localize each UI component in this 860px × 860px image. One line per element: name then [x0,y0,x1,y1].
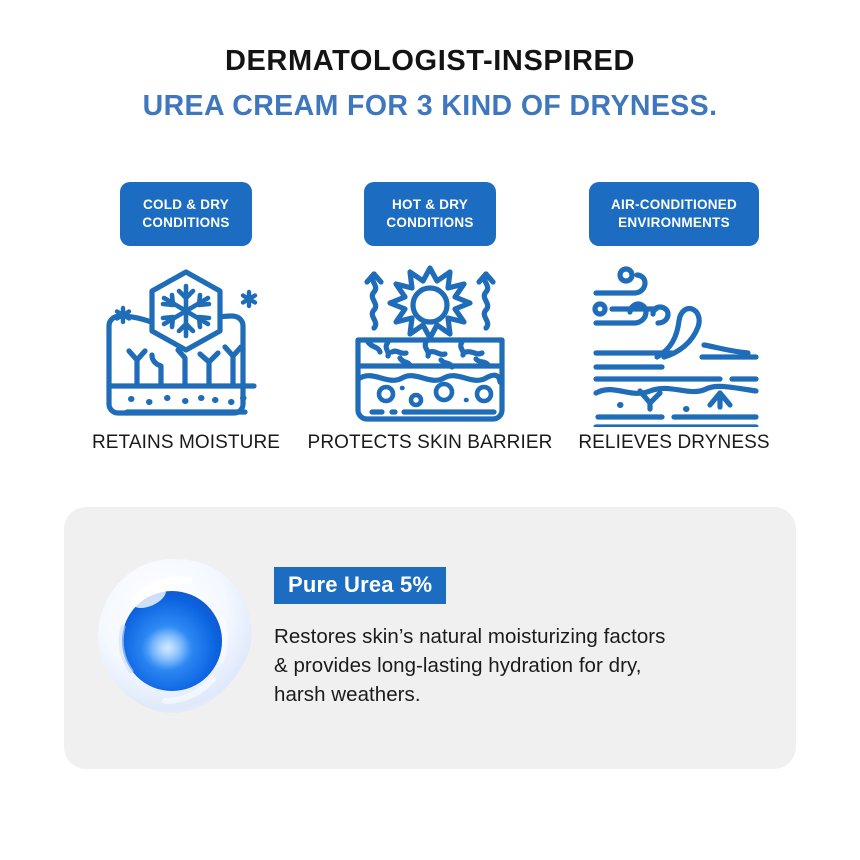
badge-cold-dry-conditions: COLD & DRY CONDITIONS [120,182,251,246]
snowflake-skin-icon [97,258,275,430]
feature-column-cold-dry: COLD & DRY CONDITIONS [64,182,308,454]
feature-column-hot-dry: HOT & DRY CONDITIONS [308,182,552,454]
infographic-page: DERMATOLOGIST-INSPIRED UREA CREAM FOR 3 … [0,0,860,860]
caption-protects-skin-barrier: PROTECTS SKIN BARRIER [308,432,553,454]
ingredient-description-line1: Restores skin’s natural moisturizing fac… [274,622,766,651]
caption-relieves-dryness: RELIEVES DRYNESS [578,432,769,454]
sun-heat-skin-icon [344,258,516,430]
badge-hot-dry-line1: HOT & DRY [392,196,468,214]
badge-hot-dry-conditions: HOT & DRY CONDITIONS [364,182,495,246]
status-badge-pure-urea: Pure Urea 5% [274,567,446,604]
badge-cold-dry-line1: COLD & DRY [143,196,229,214]
ingredient-description-line3: harsh weathers. [274,680,766,709]
badge-hot-dry-line2: CONDITIONS [386,214,473,232]
badge-air-conditioned-line1: AIR-CONDITIONED [611,196,737,214]
feature-column-air-conditioned: AIR-CONDITIONED ENVIRONMENTS [552,182,796,454]
heading-block: DERMATOLOGIST-INSPIRED UREA CREAM FOR 3 … [0,46,860,122]
water-droplet-molecule-image [74,553,274,723]
badge-air-conditioned-line2: ENVIRONMENTS [618,214,730,232]
ingredient-description-line2: & provides long-lasting hydration for dr… [274,651,766,680]
page-subtitle: UREA CREAM FOR 3 KIND OF DRYNESS. [0,91,860,122]
feature-columns: COLD & DRY CONDITIONS [64,182,796,454]
ingredient-description: Restores skin’s natural moisturizing fac… [274,622,766,709]
ingredient-card: Pure Urea 5% Restores skin’s natural moi… [64,507,796,769]
wind-dry-skin-icon [586,258,762,430]
ingredient-text-block: Pure Urea 5% Restores skin’s natural moi… [274,567,796,709]
badge-air-conditioned-environments: AIR-CONDITIONED ENVIRONMENTS [589,182,759,246]
badge-cold-dry-line2: CONDITIONS [142,214,229,232]
caption-retains-moisture: RETAINS MOISTURE [92,432,280,454]
page-title: DERMATOLOGIST-INSPIRED [0,46,860,78]
